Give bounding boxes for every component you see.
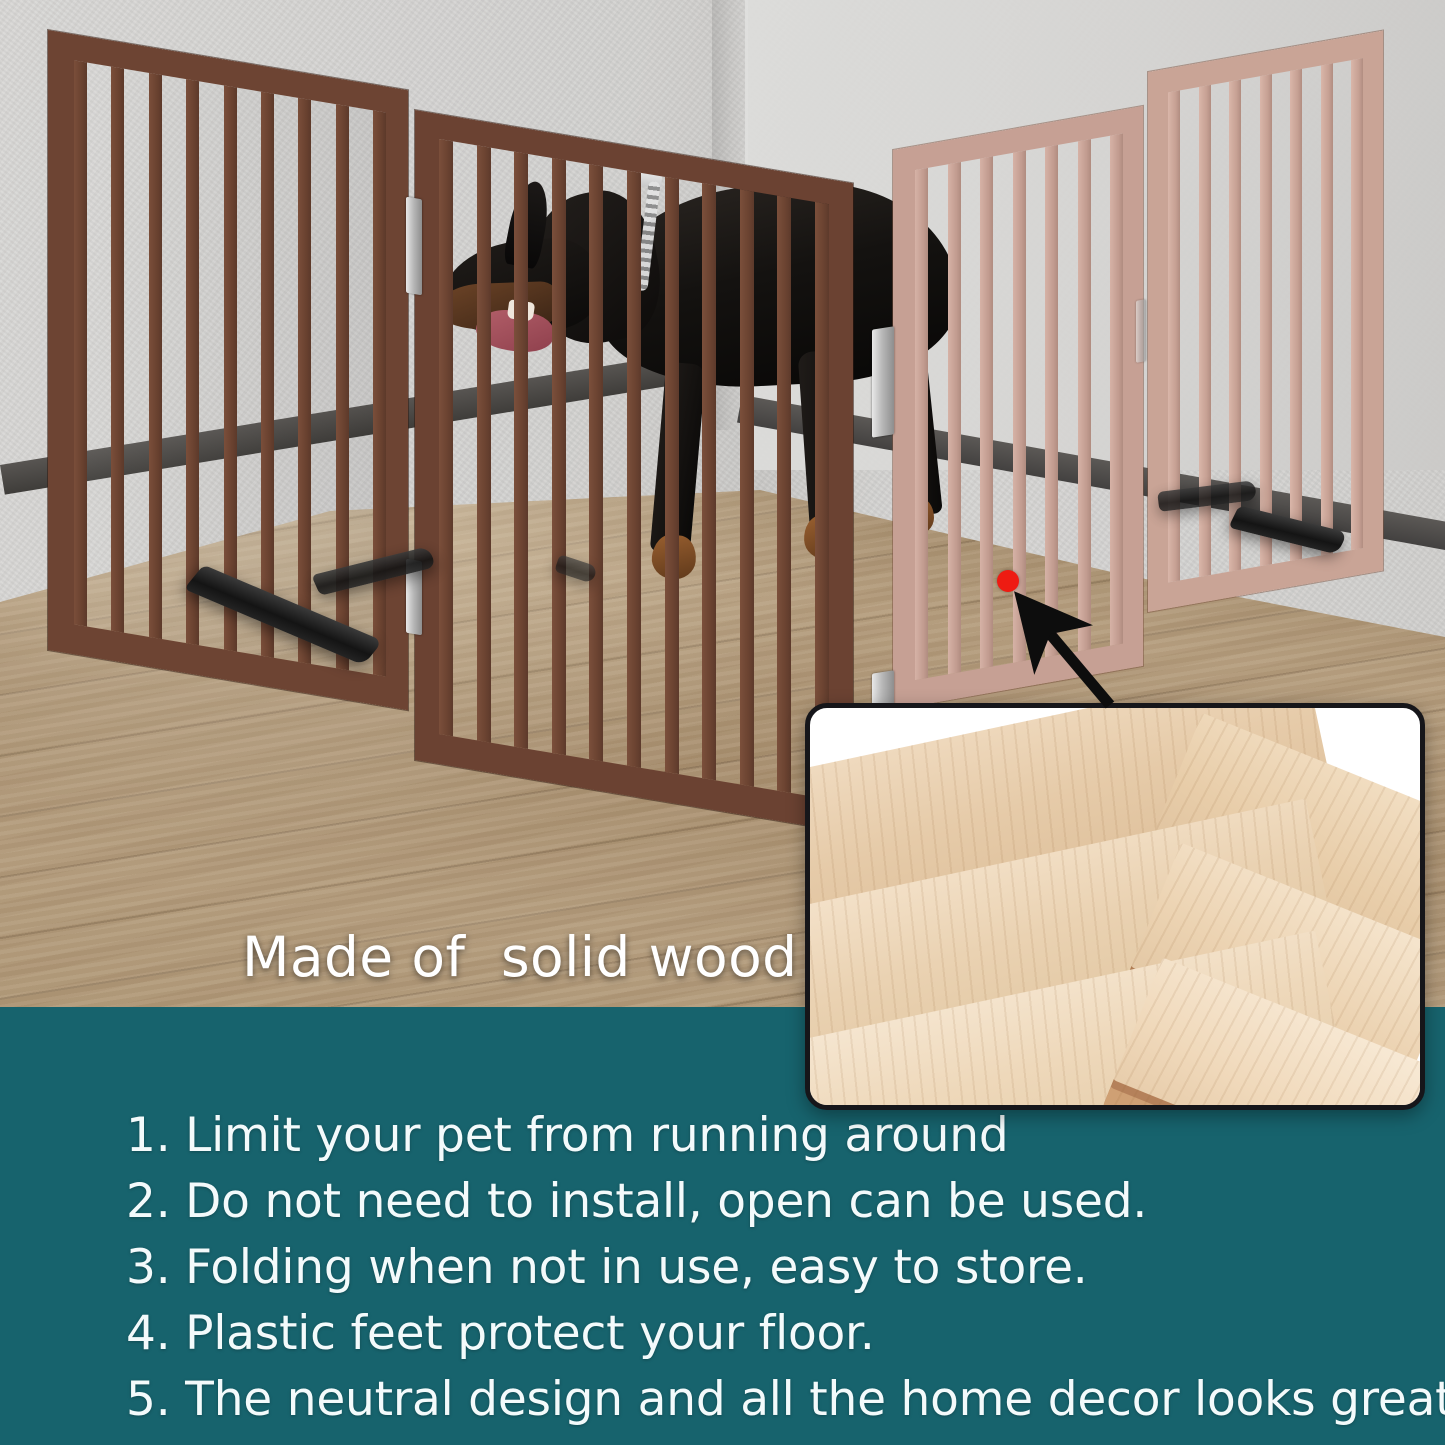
gate-slat xyxy=(702,183,716,780)
feature-list: 1. Limit your pet from running around 2.… xyxy=(126,1103,1396,1433)
hinge-icon xyxy=(872,326,894,437)
gate-slat xyxy=(627,170,641,767)
feature-item: 3. Folding when not in use, easy to stor… xyxy=(126,1235,1396,1301)
hinge-icon xyxy=(1136,299,1146,363)
gate-slat xyxy=(1351,58,1363,550)
gate-slat xyxy=(915,168,928,680)
gate-slat xyxy=(514,152,528,749)
feature-item: 5. The neutral design and all the home d… xyxy=(126,1367,1396,1433)
gate-slat xyxy=(1078,139,1091,651)
gate-slat xyxy=(1290,69,1302,561)
gate-slat xyxy=(980,156,993,668)
gate-slat xyxy=(373,110,386,676)
gate-slat xyxy=(439,139,453,736)
gate-panel-2 xyxy=(415,110,853,833)
gate-slat xyxy=(261,92,274,658)
gate-slat xyxy=(665,177,679,774)
gate-panel-3 xyxy=(893,106,1143,710)
product-infographic: Made of solid wood xyxy=(0,0,1445,1445)
gate-slat xyxy=(552,158,566,755)
gate-panel-1 xyxy=(48,30,408,710)
gate-slat xyxy=(1260,74,1272,566)
feature-item: 2. Do not need to install, open can be u… xyxy=(126,1169,1396,1235)
feature-item: 4. Plastic feet protect your floor. xyxy=(126,1301,1396,1367)
gate-slat xyxy=(224,85,237,651)
gate-panel-2-slats xyxy=(439,139,829,799)
feature-item: 1. Limit your pet from running around xyxy=(126,1103,1396,1169)
hinge-icon xyxy=(406,197,422,296)
gate-slat xyxy=(589,164,603,761)
gate-slat xyxy=(1013,151,1026,663)
gate-slat xyxy=(740,189,754,786)
gate-slat xyxy=(1045,145,1058,657)
gate-panel-3-slats xyxy=(915,133,1123,680)
solid-wood-planks-inset xyxy=(805,703,1425,1110)
gate-slat xyxy=(477,145,491,742)
gate-slat xyxy=(149,73,162,639)
gate-slat xyxy=(298,98,311,664)
gate-slat xyxy=(948,162,961,674)
gate-slat xyxy=(777,196,791,793)
gate-slat xyxy=(186,79,199,645)
gate-slat xyxy=(1321,63,1333,555)
gate-slat xyxy=(1110,133,1123,645)
gate-slat xyxy=(74,60,87,626)
page-title-caption: Made of solid wood xyxy=(242,925,797,989)
gate-slat xyxy=(111,67,124,633)
